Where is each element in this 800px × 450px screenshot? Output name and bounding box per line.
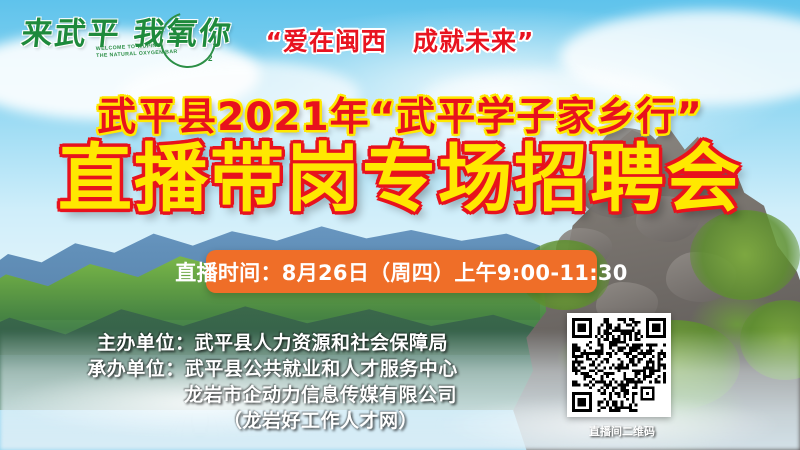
- headline-line2: 直播带岗专场招聘会: [0, 137, 800, 221]
- organizer-block: 主办单位：武平县人力资源和社会保障局 承办单位：武平县公共就业和人才服务中心 龙…: [0, 330, 545, 434]
- organizer-line-coorganizer: 承办单位：武平县公共就业和人才服务中心: [0, 356, 545, 382]
- qr-code-canvas: [572, 318, 666, 412]
- organizer-line-company: 龙岩市企动力信息传媒有限公司: [0, 382, 545, 408]
- livestream-time-banner: 直播时间：8月26日（周四）上午9:00-11:30: [206, 250, 597, 293]
- qr-code-caption: 直播间二维码: [559, 423, 685, 439]
- headline-line1: 武平县2021年“武平学子家乡行”: [0, 86, 800, 142]
- organizer-line-host: 主办单位：武平县人力资源和社会保障局: [0, 330, 545, 356]
- poster-banner: 来武平 我氧你 WELCOME TO WUPING, THE NATURAL O…: [0, 0, 800, 450]
- slogan-text: “爱在闽西 成就未来”: [0, 22, 800, 58]
- livestream-time-text: 直播时间：8月26日（周四）上午9:00-11:30: [175, 257, 627, 287]
- organizer-line-website: （龙岩好工作人才网）: [0, 408, 545, 434]
- vegetation-patch: [690, 210, 800, 300]
- qr-code-block: 直播间二维码: [567, 313, 677, 441]
- qr-code-image[interactable]: [567, 313, 671, 417]
